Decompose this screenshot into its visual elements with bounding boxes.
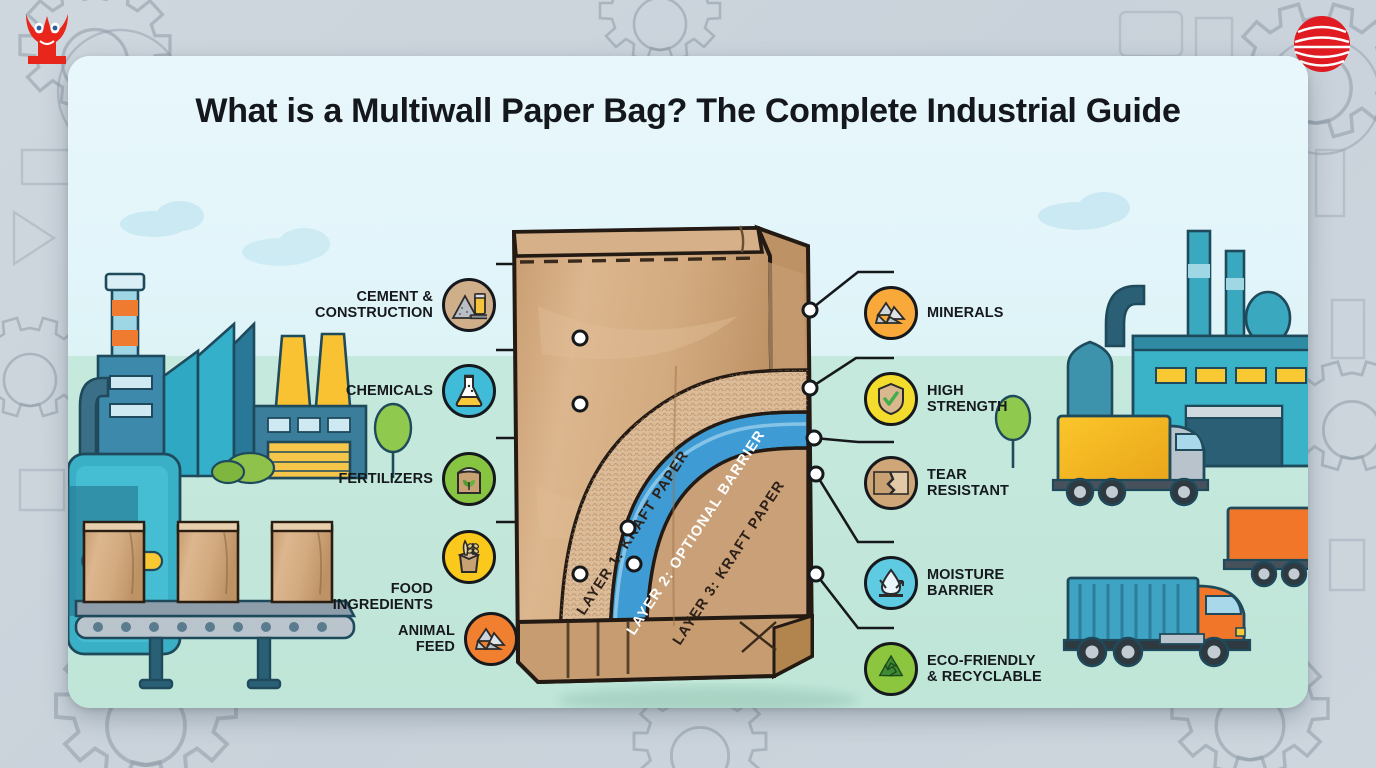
callout-cement-construction[interactable]: CEMENT & CONSTRUCTION <box>90 278 496 332</box>
water-droplet-icon <box>864 556 918 610</box>
fertilizer-bag-leaf-icon <box>442 452 496 506</box>
callout-minerals[interactable]: MINERALS <box>864 286 1004 340</box>
callout-label: MOISTURE BARRIER <box>927 567 1004 599</box>
callout-eco-friendly[interactable]: ECO-FRIENDLY & RECYCLABLE <box>864 642 1042 696</box>
callout-label: CEMENT & CONSTRUCTION <box>315 289 433 321</box>
wheat-grain-bag-icon <box>442 530 496 584</box>
callout-label: ECO-FRIENDLY & RECYCLABLE <box>927 653 1042 685</box>
callout-moisture-barrier[interactable]: MOISTURE BARRIER <box>864 556 1004 610</box>
page-title: What is a Multiwall Paper Bag? The Compl… <box>68 92 1308 131</box>
multiwall-paper-bag: LAYER 1: KRAFT PAPER LAYER 2: OPTIONAL B… <box>514 226 858 708</box>
yellow-truck <box>1053 416 1208 505</box>
cement-sand-pile-icon <box>442 278 496 332</box>
callout-label: ANIMAL FEED <box>398 623 455 655</box>
callout-food-ingredients[interactable]: FOOD INGREDIENTS <box>90 530 496 584</box>
callout-fertilizers[interactable]: FERTILIZERS <box>90 452 496 506</box>
callout-label: HIGH STRENGTH <box>927 383 1008 415</box>
callout-label: FOOD INGREDIENTS <box>333 581 433 613</box>
chemical-flask-icon <box>442 364 496 418</box>
callout-tear-resistant[interactable]: TEAR RESISTANT <box>864 456 1009 510</box>
torn-paper-icon <box>864 456 918 510</box>
orange-trailer <box>1224 508 1308 586</box>
mineral-rocks-icon <box>464 612 518 666</box>
shield-check-icon <box>864 372 918 426</box>
container-truck <box>1064 578 1250 666</box>
callout-label: FERTILIZERS <box>338 471 433 487</box>
callout-label: MINERALS <box>927 305 1004 321</box>
callout-high-strength[interactable]: HIGH STRENGTH <box>864 372 1008 426</box>
callout-animal-feed[interactable]: ANIMAL FEED <box>90 612 518 666</box>
mineral-rocks-icon <box>864 286 918 340</box>
logistics-distribution-scene <box>996 231 1308 666</box>
callout-label: CHEMICALS <box>346 383 433 399</box>
infographic-card: LAYER 1: KRAFT PAPER LAYER 2: OPTIONAL B… <box>68 56 1308 708</box>
recycle-icon <box>864 642 918 696</box>
callout-chemicals[interactable]: CHEMICALS <box>90 364 496 418</box>
callout-label: TEAR RESISTANT <box>927 467 1009 499</box>
